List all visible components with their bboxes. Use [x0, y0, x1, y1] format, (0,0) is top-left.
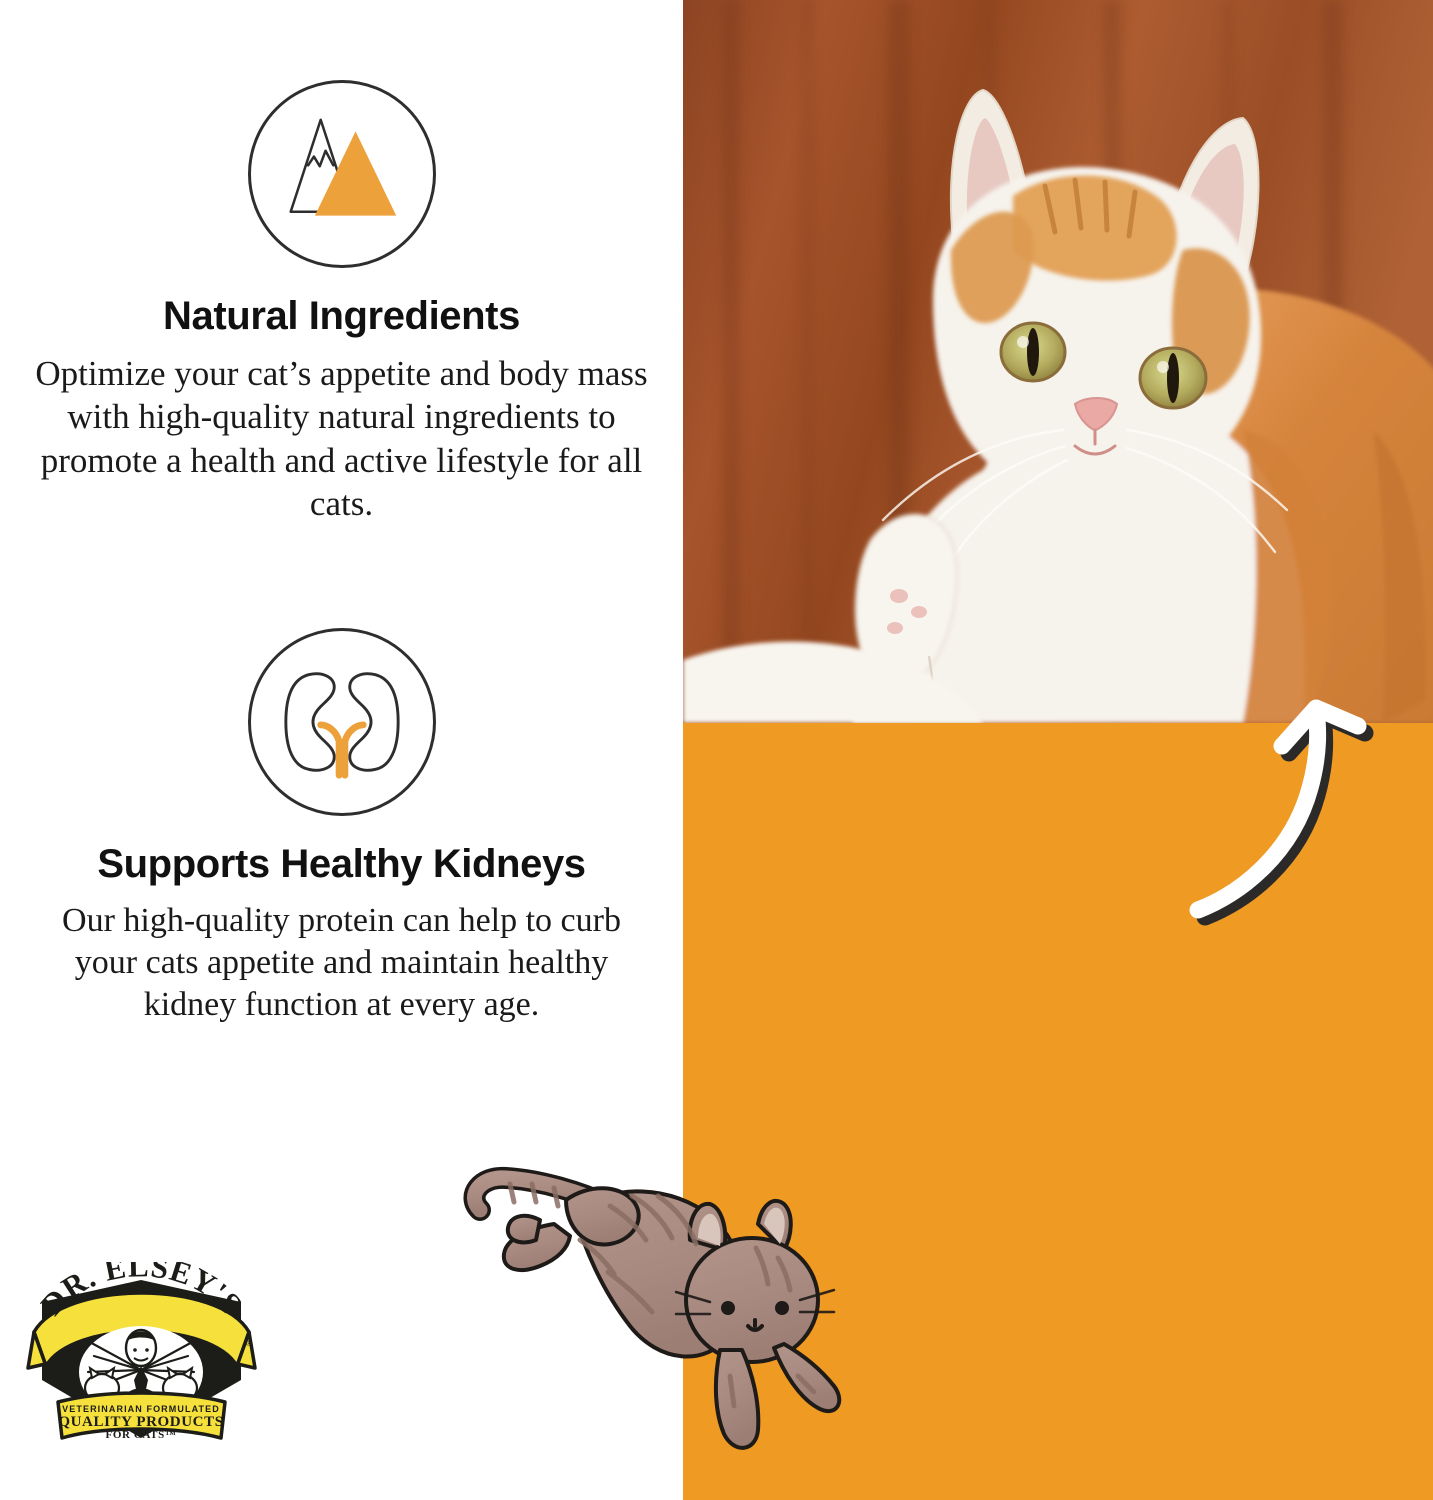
- feature-natural-ingredients: Natural Ingredients Optimize your cat’s …: [0, 80, 683, 526]
- feature-title: Supports Healthy Kidneys: [0, 842, 683, 886]
- features-column: Natural Ingredients Optimize your cat’s …: [0, 0, 683, 1500]
- hero-column: we SPEAK for CATS: [683, 0, 1433, 1500]
- promo-graphic: Natural Ingredients Optimize your cat’s …: [0, 0, 1433, 1500]
- cat-photo: [683, 0, 1433, 723]
- logo-registered-mark: ®: [246, 1339, 252, 1348]
- dr-elseys-logo: DR. ELSEY'S ®: [24, 1262, 259, 1458]
- logo-banner-line-1: VETERINARIAN FORMULATED: [62, 1404, 220, 1414]
- logo-banner-line-2: QUALITY PRODUCTS: [58, 1414, 223, 1430]
- logo-banner-line-3: FOR CATS™: [106, 1429, 177, 1441]
- kidneys-icon: [248, 628, 436, 816]
- feature-title: Natural Ingredients: [0, 294, 683, 338]
- feature-supports-healthy-kidneys: Supports Healthy Kidneys Our high-qualit…: [0, 628, 683, 1026]
- mountain-icon: [248, 80, 436, 268]
- feature-body: Our high-quality protein can help to cur…: [62, 900, 622, 1026]
- orange-panel: we SPEAK for CATS: [683, 723, 1433, 1500]
- feature-body: Optimize your cat’s appetite and body ma…: [19, 352, 664, 526]
